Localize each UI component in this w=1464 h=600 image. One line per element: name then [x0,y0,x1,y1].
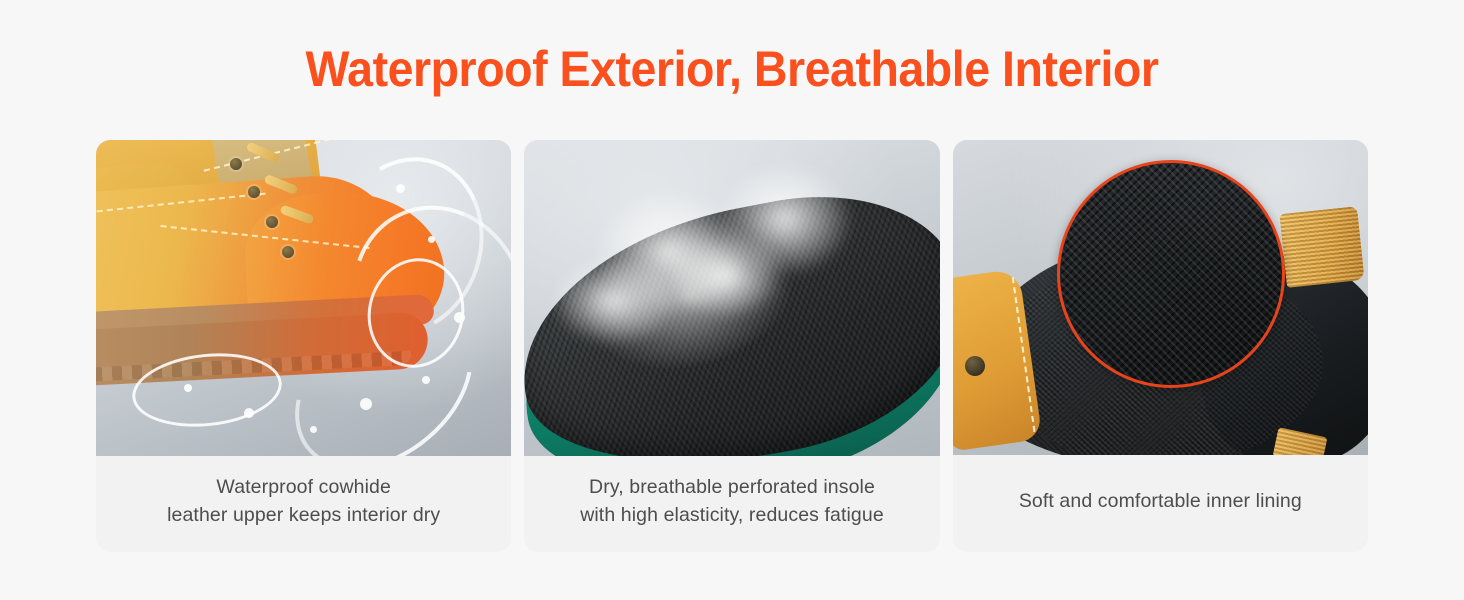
boot-eyelet [965,356,985,376]
caption-line-1: Soft and comfortable inner lining [1019,490,1302,512]
boot-eyelet [282,246,294,258]
caption-line-1: Waterproof cowhide [216,476,391,498]
card-caption-waterproof-cowhide: Waterproof cowhide leather upper keeps i… [96,456,511,552]
feature-card-inner-lining[interactable]: Soft and comfortable inner lining [953,140,1368,552]
card-caption-inner-lining: Soft and comfortable inner lining [953,455,1368,552]
boot-eyelet [266,216,278,228]
caption-line-2: with high elasticity, reduces fatigue [580,504,884,526]
water-droplet [428,236,435,243]
boot-eyelet [248,186,260,198]
water-droplet [310,426,317,433]
caption-text-block: Dry, breathable perforated insole with h… [580,473,884,529]
product-feature-banner: Waterproof Exterior, Breathable Interior [0,0,1464,600]
boot-eyelet [230,158,242,170]
magnifier-callout-icon [1057,160,1285,388]
steam-plume [670,236,780,316]
water-droplet [454,312,465,323]
feature-card-waterproof-cowhide[interactable]: Waterproof cowhide leather upper keeps i… [96,140,511,552]
water-droplet [184,384,192,392]
card-image-breathable-insole [524,140,939,456]
card-image-inner-lining [953,140,1368,455]
water-droplet [360,398,372,410]
water-droplet [244,408,254,418]
water-droplet [422,376,430,384]
caption-text-block: Soft and comfortable inner lining [1019,487,1302,515]
caption-line-2: leather upper keeps interior dry [167,504,440,526]
card-image-waterproof-cowhide [96,140,511,456]
caption-line-1: Dry, breathable perforated insole [589,476,875,498]
water-droplet [396,184,405,193]
caption-text-block: Waterproof cowhide leather upper keeps i… [167,473,440,529]
steam-plume [554,258,674,344]
boot-pull-tab [1279,206,1364,288]
card-caption-breathable-insole: Dry, breathable perforated insole with h… [524,456,939,552]
banner-title: Waterproof Exterior, Breathable Interior [51,40,1413,98]
feature-card-row: Waterproof cowhide leather upper keeps i… [96,140,1368,552]
feature-card-breathable-insole[interactable]: Dry, breathable perforated insole with h… [524,140,939,552]
